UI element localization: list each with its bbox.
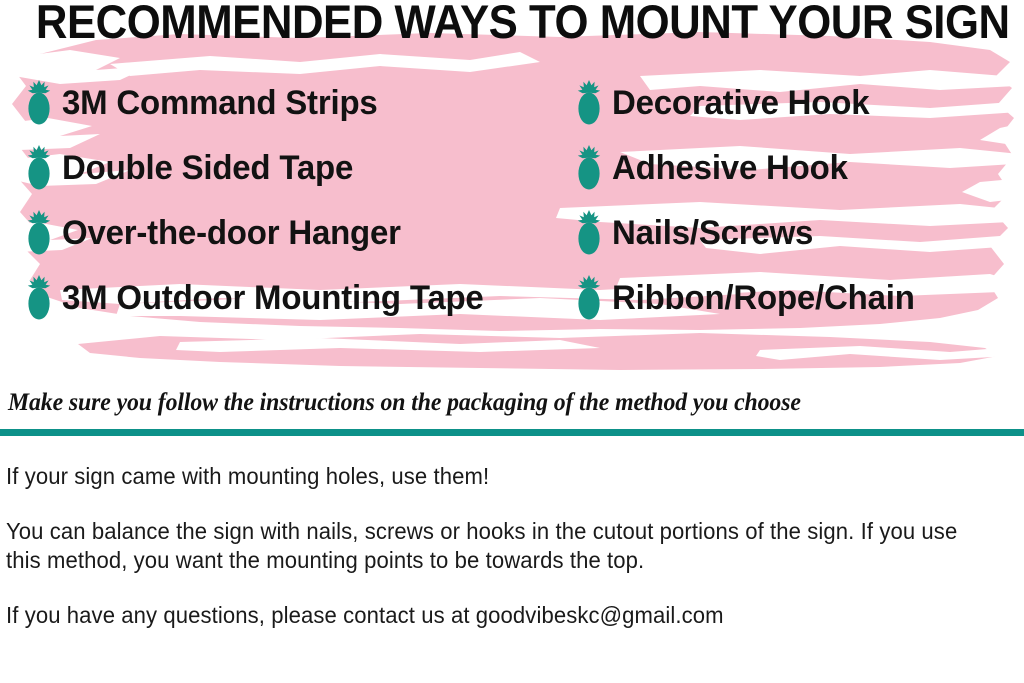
body-paragraph-3: If you have any questions, please contac… <box>6 601 966 630</box>
pineapple-icon <box>576 145 602 191</box>
list-item-label: 3M Command Strips <box>62 85 378 121</box>
mounting-methods-list: 3M Command Strips Double Sided Tape <box>0 70 1024 330</box>
body-paragraph-1: If your sign came with mounting holes, u… <box>6 462 966 491</box>
pineapple-icon <box>26 275 52 321</box>
list-item-label: Ribbon/Rope/Chain <box>612 280 915 316</box>
pineapple-icon <box>576 80 602 126</box>
list-item-label: Over-the-door Hanger <box>62 215 401 251</box>
list-item-label: Nails/Screws <box>612 215 813 251</box>
pineapple-icon <box>26 80 52 126</box>
list-item-label: Adhesive Hook <box>612 150 848 186</box>
list-item: 3M Command Strips <box>26 70 566 135</box>
page-title: RECOMMENDED WAYS TO MOUNT YOUR SIGN <box>36 0 988 46</box>
list-item-label: 3M Outdoor Mounting Tape <box>62 280 484 316</box>
pineapple-icon <box>576 275 602 321</box>
body-paragraph-2: You can balance the sign with nails, scr… <box>6 517 966 575</box>
methods-right-column: Decorative Hook Adhesive Hook <box>566 70 1024 330</box>
methods-left-column: 3M Command Strips Double Sided Tape <box>0 70 566 330</box>
list-item: Over-the-door Hanger <box>26 200 566 265</box>
list-item: Ribbon/Rope/Chain <box>576 265 1024 330</box>
body-copy: If your sign came with mounting holes, u… <box>6 462 1006 630</box>
list-item: 3M Outdoor Mounting Tape <box>26 265 566 330</box>
teal-divider <box>0 429 1024 436</box>
page-title-container: RECOMMENDED WAYS TO MOUNT YOUR SIGN <box>0 0 1024 46</box>
list-item-label: Decorative Hook <box>612 85 869 121</box>
list-item-label: Double Sided Tape <box>62 150 353 186</box>
list-item: Double Sided Tape <box>26 135 566 200</box>
pineapple-icon <box>576 210 602 256</box>
pineapple-icon <box>26 145 52 191</box>
list-item: Decorative Hook <box>576 70 1024 135</box>
pineapple-icon <box>26 210 52 256</box>
list-item: Adhesive Hook <box>576 135 1024 200</box>
list-item: Nails/Screws <box>576 200 1024 265</box>
instructions-note: Make sure you follow the instructions on… <box>8 388 966 418</box>
